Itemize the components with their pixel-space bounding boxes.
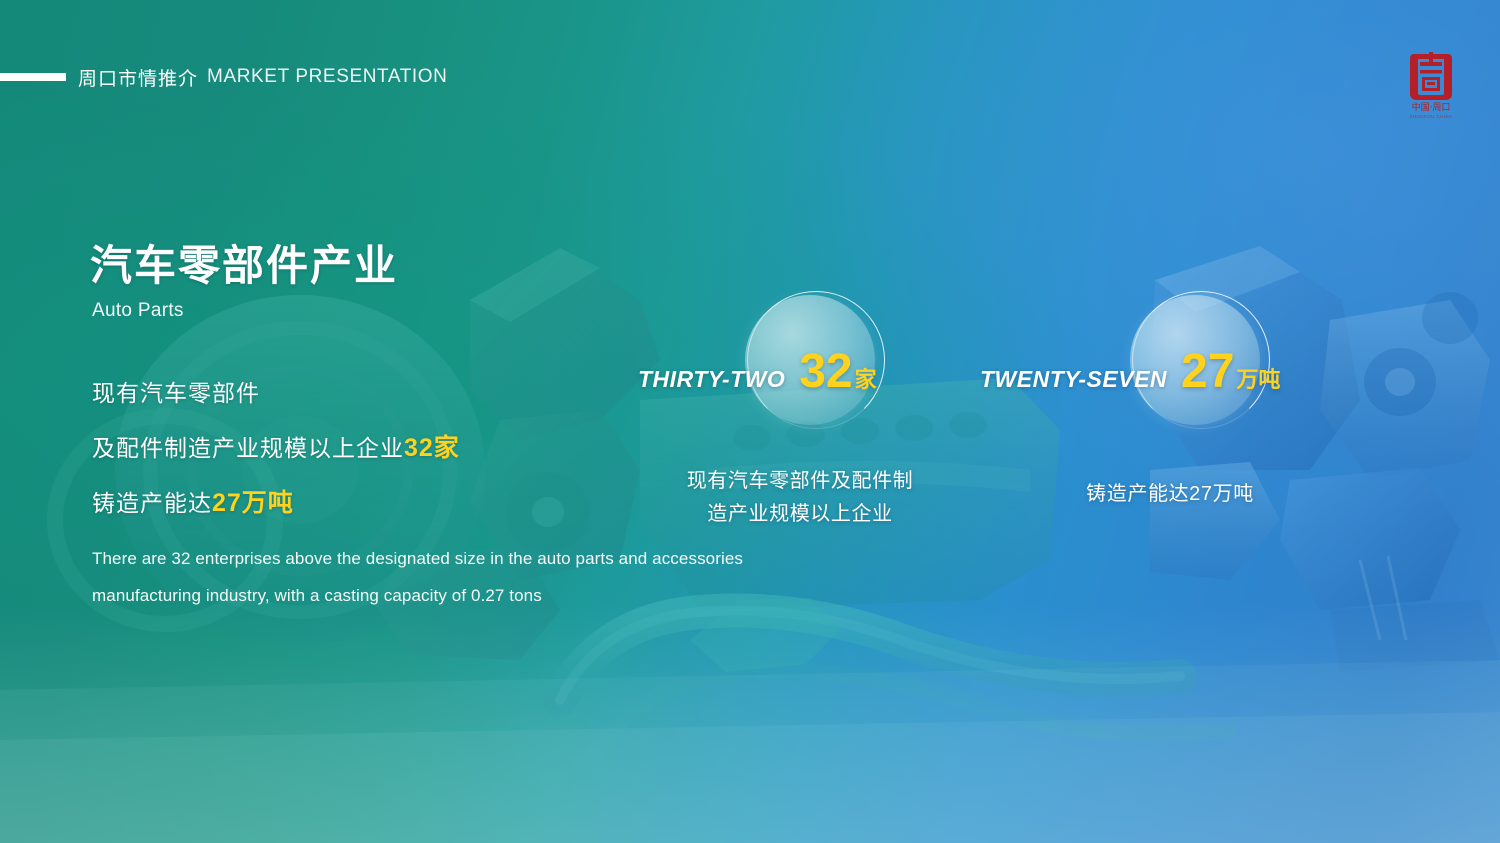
english-description: There are 32 enterprises above the desig… xyxy=(92,540,822,614)
stat-2-caption-line-1: 铸造产能达27万吨 xyxy=(1045,478,1295,511)
stat-1-text: THIRTY-TWO 32 家 xyxy=(638,348,877,396)
stat-1-unit: 家 xyxy=(855,362,877,394)
slide-header: 周口市情推介 MARKET PRESENTATION xyxy=(0,62,448,92)
cn-line-3-text: 铸造产能达 xyxy=(92,490,212,516)
stat-2-number: 27 xyxy=(1181,348,1234,396)
stat-1-caption: 现有汽车零部件及配件制 造产业规模以上企业 xyxy=(650,465,950,531)
page-title-cn: 汽车零部件产业 xyxy=(90,243,398,289)
stat-1-caption-line-2: 造产业规模以上企业 xyxy=(650,498,950,531)
header-title-en: MARKET PRESENTATION xyxy=(207,66,448,88)
header-title-cn: 周口市情推介 xyxy=(78,64,198,91)
logo-caption: 中国·周口 xyxy=(1412,101,1451,113)
stat-1-caption-line-1: 现有汽车零部件及配件制 xyxy=(650,465,950,498)
cn-line-2-highlight: 32家 xyxy=(404,434,460,462)
cn-line-3-highlight: 27万吨 xyxy=(212,489,294,517)
chinese-description-block: 现有汽车零部件 及配件制造产业规模以上企业32家 铸造产能达27万吨 xyxy=(92,366,732,531)
cn-line-3: 铸造产能达27万吨 xyxy=(92,476,732,531)
cn-line-1-text: 现有汽车零部件 xyxy=(92,380,260,406)
presentation-slide: 周口市情推介 MARKET PRESENTATION 中国·周口 ZHOUKOU… xyxy=(0,0,1500,843)
cn-line-2-text: 及配件制造产业规模以上企业 xyxy=(92,435,404,461)
stat-2-en-label: TWENTY-SEVEN xyxy=(980,366,1167,393)
logo-seal-icon: 中国·周口 ZHOUKOU CHINA xyxy=(1398,46,1464,122)
stat-2-unit: 万吨 xyxy=(1236,362,1280,394)
stat-2-caption: 铸造产能达27万吨 xyxy=(1045,478,1295,511)
cn-line-2: 及配件制造产业规模以上企业32家 xyxy=(92,421,732,476)
stat-2-text: TWENTY-SEVEN 27 万吨 xyxy=(980,348,1280,396)
cn-line-1: 现有汽车零部件 xyxy=(92,366,732,421)
header-accent-bar xyxy=(0,73,66,81)
logo-sub-caption: ZHOUKOU CHINA xyxy=(1410,114,1453,119)
zhoukou-logo: 中国·周口 ZHOUKOU CHINA xyxy=(1398,46,1464,122)
page-title-en: Auto Parts xyxy=(92,300,184,322)
background-floor-sheen xyxy=(0,603,1500,843)
stat-1-number: 32 xyxy=(799,348,852,396)
stat-1-en-label: THIRTY-TWO xyxy=(638,366,785,393)
